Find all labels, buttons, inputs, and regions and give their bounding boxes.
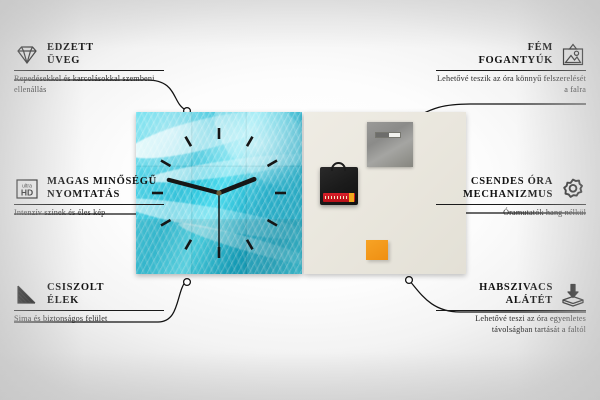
feature-title-line: CSENDES ÓRA [463, 176, 553, 189]
feature-description: Sima és biztonságos felület [14, 311, 164, 324]
feature-high-quality-print[interactable]: ultra HD MAGAS MINŐSÉGŰ NYOMTATÁS Intenz… [14, 176, 164, 219]
feature-title-line: MECHANIZMUS [463, 189, 553, 202]
feature-header: CSENDES ÓRA MECHANIZMUS [436, 176, 586, 204]
wire-dot-polished-edges [184, 279, 191, 286]
hour-marker [186, 137, 192, 147]
minute-hand [169, 180, 219, 193]
hour-hand [219, 179, 254, 193]
wire-dot-foam-pad [406, 277, 413, 284]
feature-title-line: HABSZIVACS [479, 282, 553, 295]
battery [323, 193, 355, 202]
feature-title-line: EDZETT [47, 42, 94, 55]
feature-header: EDZETT ÜVEG [14, 42, 164, 70]
feature-description: Lehetővé teszik az óra könnyű felszerelé… [436, 71, 586, 95]
feature-polished-edges[interactable]: CSISZOLT ÉLEK Sima és biztonságos felüle… [14, 282, 164, 325]
feature-title-line: MAGAS MINŐSÉGŰ [47, 176, 157, 189]
infographic-canvas: EDZETT ÜVEG Repedésekkel és karcolásokka… [0, 0, 600, 400]
feature-header: ultra HD MAGAS MINŐSÉGŰ NYOMTATÁS [14, 176, 164, 204]
svg-text:HD: HD [21, 187, 33, 197]
feature-metal-handles[interactable]: FÉM FOGANTYÚK Lehetővé teszik az óra kön… [436, 42, 586, 95]
hour-marker [161, 161, 171, 167]
feature-title-line: CSISZOLT [47, 282, 104, 295]
feature-tempered-glass[interactable]: EDZETT ÜVEG Repedésekkel és karcolásokka… [14, 42, 164, 95]
hour-marker [186, 240, 192, 250]
feature-description: Óramutatók hang nélkül [436, 205, 586, 218]
diamond-icon [14, 43, 40, 67]
hour-marker [268, 161, 278, 167]
feature-title-line: ALÁTÉT [479, 295, 553, 308]
movement-hook [331, 162, 346, 171]
feature-header: FÉM FOGANTYÚK [436, 42, 586, 70]
feature-title: HABSZIVACS ALÁTÉT [479, 282, 553, 307]
feature-title: CSISZOLT ÉLEK [47, 282, 104, 307]
hour-marker [247, 137, 253, 147]
feature-description: Repedésekkel és karcolásokkal szembeni e… [14, 71, 164, 95]
metal-hanger-plate [367, 122, 413, 167]
polished-edge-icon [14, 283, 40, 307]
feature-title-line: ÜVEG [47, 55, 94, 68]
feature-header: CSISZOLT ÉLEK [14, 282, 164, 310]
hour-marker [161, 220, 171, 226]
feature-title-line: FÉM [478, 42, 553, 55]
picture-frame-hanger-icon [560, 43, 586, 67]
ultra-hd-icon: ultra HD [14, 177, 40, 201]
quartz-movement [320, 167, 358, 205]
hour-marker [247, 240, 253, 250]
feature-title: FÉM FOGANTYÚK [478, 42, 553, 67]
foam-spacer-pad [366, 240, 388, 260]
feature-description: Intenzív színek és éles kép [14, 205, 164, 218]
feature-silent-mechanism[interactable]: CSENDES ÓRA MECHANIZMUS Óramutatók hang … [436, 176, 586, 219]
feature-title-line: ÉLEK [47, 295, 104, 308]
feature-title-line: FOGANTYÚK [478, 55, 553, 68]
feature-title: CSENDES ÓRA MECHANIZMUS [463, 176, 553, 201]
hour-marker [268, 220, 278, 226]
product-photo [136, 112, 466, 274]
feature-header: HABSZIVACS ALÁTÉT [436, 282, 586, 310]
feature-title-line: NYOMTATÁS [47, 189, 157, 202]
feature-title: MAGAS MINŐSÉGŰ NYOMTATÁS [47, 176, 157, 201]
feature-description: Lehetővé teszi az óra egyenletes távolsá… [436, 311, 586, 335]
feature-foam-pad[interactable]: HABSZIVACS ALÁTÉT Lehetővé teszi az óra … [436, 282, 586, 335]
hanger-slot [375, 132, 401, 138]
feature-title: EDZETT ÜVEG [47, 42, 94, 67]
foam-pad-arrow-icon [560, 283, 586, 307]
gear-icon [560, 177, 586, 201]
